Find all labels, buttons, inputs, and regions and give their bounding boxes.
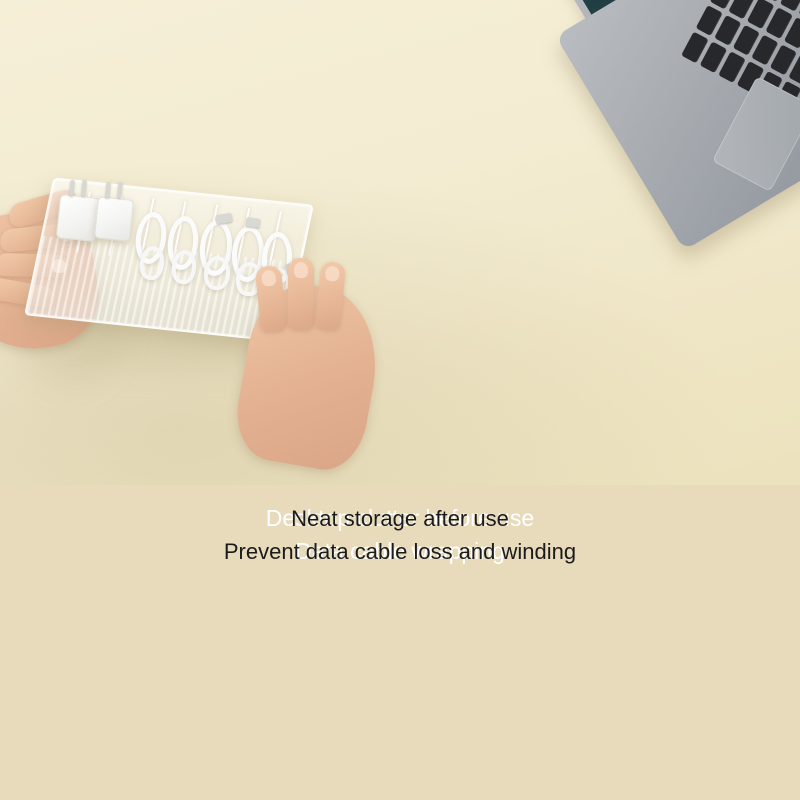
caption-after: Neat storage after use Prevent data cabl…: [0, 485, 800, 585]
laptop-trackpad: [712, 76, 800, 192]
fingernail: [261, 269, 277, 286]
caption-after-line-2: Prevent data cable loss and winding: [224, 535, 576, 568]
fingernail: [325, 265, 340, 281]
photo-neat-storage: [0, 0, 800, 485]
laptop-body: [555, 0, 800, 251]
cable-tip: [245, 217, 260, 228]
wall-charger: [94, 196, 134, 242]
fingernail: [294, 262, 308, 278]
right-hand-finger: [288, 258, 314, 330]
caption-after-line-1: Neat storage after use: [291, 502, 509, 535]
